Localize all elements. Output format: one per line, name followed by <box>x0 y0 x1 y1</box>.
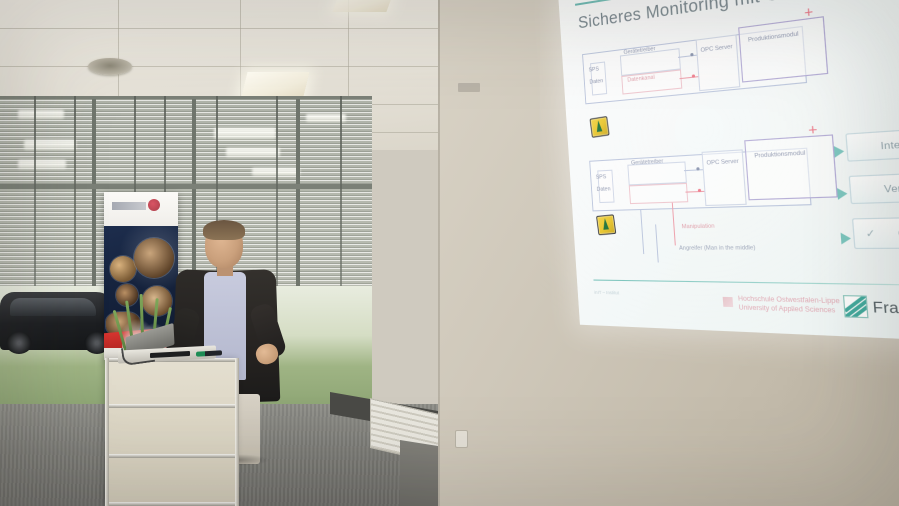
ceiling-light-panel <box>332 0 393 12</box>
ceiling-vent-icon <box>88 58 132 75</box>
diagram-production-module-box <box>744 134 838 200</box>
bullet-item-opc-ua-security: OPC-UA-Security <box>852 215 899 249</box>
university-logo-mark-icon <box>723 297 734 307</box>
plus-marker-icon: + <box>804 4 814 20</box>
slide-footer-rule <box>593 279 899 286</box>
banner-logo-mark-icon <box>148 199 160 211</box>
attacker-icon <box>590 116 610 138</box>
bullet-item-encryption: Verschlüsselung <box>849 169 899 204</box>
slide-meta: inIT – Institut <box>594 290 619 296</box>
check-icon: ✓ <box>865 227 876 240</box>
bullet-arrow-icon <box>841 233 852 245</box>
bullet-arrow-icon <box>837 188 848 200</box>
diagram-opc-server-box <box>696 34 741 91</box>
banner-logo <box>112 202 146 210</box>
bullet-arrow-icon <box>834 145 845 157</box>
diagram-data-box <box>629 183 689 204</box>
lectern-cabinet <box>105 358 239 506</box>
diagram-label: Daten <box>597 186 611 193</box>
diagram-label: SPS <box>596 174 607 181</box>
plus-marker-icon: + <box>808 122 818 138</box>
diagram-label-alert: Manipulation <box>682 223 715 230</box>
attacker-caption: Angreifer (Man in the middle) <box>679 245 756 252</box>
diagram-production-module-box <box>738 16 828 82</box>
projected-slide: Sicheres Monitoring mit O Gerätetreiber … <box>558 0 899 342</box>
photo-scene: Sicheres Monitoring mit O Gerätetreiber … <box>0 0 899 506</box>
diagram-opc-server-box <box>702 149 747 206</box>
fraunhofer-logo: Fraunhofer <box>843 295 899 321</box>
fraunhofer-name: Fraunhofer <box>872 298 899 319</box>
bullet-item-integrity: Integrität/Authentizität <box>845 123 899 162</box>
parked-car <box>0 292 118 350</box>
fraunhofer-mark-icon <box>843 295 869 318</box>
attacker-icon <box>596 214 616 235</box>
diagram-label: SPS <box>589 66 600 73</box>
university-name-line2: University of Applied Sciences <box>738 304 835 317</box>
wall-fixture <box>458 83 480 92</box>
power-socket <box>455 430 468 448</box>
